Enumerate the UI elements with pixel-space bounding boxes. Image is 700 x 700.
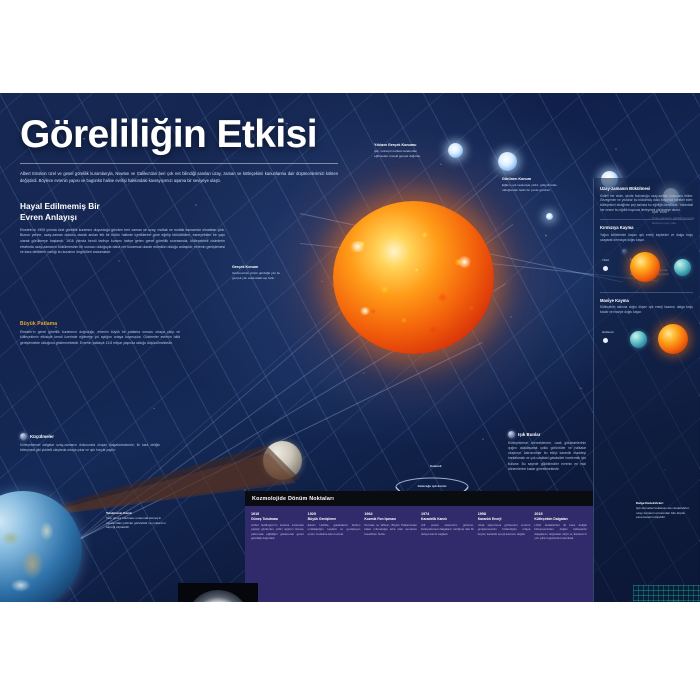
poster-canvas: Göreliliğin Etkisi Albert Einstein üzel … [0, 0, 700, 700]
rc-divider [600, 219, 693, 220]
timeline-title: Güneş Tutulması [251, 517, 304, 521]
rc-section-maviye-kayma: Maviye Kayma Kütleçekim alanına doğru dü… [594, 298, 699, 358]
timeline-header-bar: Kozmolojide Dönüm Noktaları [245, 491, 593, 506]
rc-section-kirmiziya-kayma: Kırmızıya Kayma Yoğun kütlelerden kaçan … [594, 225, 699, 285]
sun-granulation-texture [333, 201, 494, 354]
redshift-left-tag: Yıldız [602, 258, 609, 262]
timeline-title: Büyük Genişleme [308, 517, 361, 521]
timeline-year: 2015 [534, 512, 587, 516]
right-info-column: Uzay-zamanın Bükülmesi Kütleli her cisim… [593, 178, 699, 602]
star-sphere-icon [630, 252, 660, 282]
bullet-body: Kütleçekimsel merceklenme, uzak gökcisim… [508, 441, 586, 473]
rc-heading: Maviye Kayma [600, 298, 693, 303]
section-subtitle-body: Einstein'ın 1905 yılında özel görelilik … [20, 228, 225, 256]
cone-top-label: Gelecek [430, 465, 470, 469]
blueshift-diagram: Gözlemci [600, 318, 693, 358]
planet-sphere-icon [674, 259, 691, 276]
caption-title: Dalga Dedektörleri [636, 501, 663, 505]
section-subtitle: Hayal Edilmemiş Bir Evren Anlayışı [20, 201, 360, 223]
solar-flare-icon [349, 241, 366, 252]
sun-illustration [333, 201, 494, 354]
moon-illustration [263, 441, 302, 480]
cone-upper-label: Geleceğe ışık konisi [404, 485, 460, 489]
eclipse-corona [186, 590, 250, 602]
rc-body: Kütleli her cisim, içinde bulunduğu uzay… [600, 194, 693, 214]
timeline-title: Kozmik Fon Işıması [364, 517, 417, 521]
earth-landmasses [0, 491, 82, 602]
star-sphere-icon [658, 324, 688, 354]
bigbang-body: Einstein'ın genel görelilik kuramının do… [20, 330, 180, 346]
timeline-year: 1929 [308, 512, 361, 516]
observer-dot-icon [603, 338, 608, 343]
timeline-item: 2015 Kütleçekim Dalgaları LIGO dedektörl… [534, 512, 587, 541]
planet-sphere-icon [630, 331, 647, 348]
timeline-item: 1974 Karadelik Kanıtı Çift pulsar sistem… [421, 512, 474, 541]
timeline-items: 1919 Güneş Tutulması Arthur Eddington'ın… [245, 506, 593, 541]
bullet-isik-bunlar: Işık Bunlar Kütleçekimsel merceklenme, u… [508, 431, 586, 472]
relativity-poster: Göreliliğin Etkisi Albert Einstein üzel … [0, 93, 700, 602]
caption-title: Tutulmanın Kanıtı [106, 511, 132, 515]
label-title: Görünen Konum [502, 177, 558, 182]
solar-flare-icon [457, 256, 472, 268]
bullet-body: Kütleçekimsel dalgalar uzay-zamanın doku… [20, 443, 160, 454]
rc-heading: Kırmızıya Kayma [600, 225, 693, 230]
timeline-body: Penzias ve Wilson, Büyük Patlama'dan kal… [364, 523, 417, 537]
timeline-title: Kütleçekim Dalgaları [534, 517, 587, 521]
intro-paragraph: Albert Einstein üzel ve genel görelilik … [20, 171, 338, 184]
timeline-body: Uzak süpernova gözlemleri evrenin genişl… [478, 523, 531, 537]
timeline-heading: Kozmolojide Dönüm Noktaları [252, 496, 334, 502]
star-body-2 [498, 152, 517, 171]
bullet-label: Küçülmeler [30, 434, 54, 439]
label-title: Gerçek Konum [232, 265, 282, 270]
bigbang-block: Büyük Patlama Einstein'ın genel görelili… [20, 321, 180, 346]
rc-section-bukulme: Uzay-zamanın Bükülmesi Kütleli her cisim… [594, 178, 699, 213]
timeline-body: Çift pulsar sisteminin gözlemi, kütleçek… [421, 523, 474, 537]
label-title: Yıldızın Gerçek Konumu [374, 143, 428, 148]
rc-heading: Uzay-zamanın Bükülmesi [600, 186, 693, 191]
sphere-icon [20, 433, 27, 440]
page-title: Göreliliğin Etkisi [20, 115, 360, 154]
timeline-item: 1998 Karanlık Enerji Uzak süpernova gözl… [478, 512, 531, 541]
label-desc: Gözlemcinin yıldızı gördüğü yön ile gerç… [232, 271, 282, 281]
timeline-body: Arthur Eddington'ın tutulma sırasında ya… [251, 523, 304, 541]
blueshift-left-tag: Gözlemci [602, 330, 614, 334]
rc-body: Yoğun kütlelerden kaçan ışık enerji kayb… [600, 233, 693, 243]
label-desc: Işık, Güneş'in kütlesi tarafından eğilme… [374, 149, 428, 159]
caption-body: Işık demetleri kullanan dev dedektörler,… [636, 506, 696, 520]
title-divider [20, 163, 338, 164]
timeline-title: Karanlık Enerji [478, 517, 531, 521]
gw-caption: Dalga Dedektörleri Işık demetleri kullan… [636, 501, 696, 520]
gravitational-wave-photo [633, 585, 700, 602]
timeline-year: 1919 [251, 512, 304, 516]
timeline-title: Karadelik Kanıtı [421, 517, 474, 521]
label-gercek-konum: Gerçek Konum Gözlemcinin yıldızı gördüğü… [232, 265, 282, 281]
bigbang-heading: Büyük Patlama [20, 321, 180, 327]
timeline-body: Edwin Hubble, galaksilerin bizden uzakla… [308, 523, 361, 537]
caption-body: Tam güneş tutulması sırasında Güneş'in y… [106, 516, 172, 530]
observer-dot-icon [603, 266, 608, 271]
timeline-item: 1919 Güneş Tutulması Arthur Eddington'ın… [251, 512, 304, 541]
label-gorunen-konum: Görünen Konum Eğilen ışık nedeniyle yıld… [502, 177, 558, 193]
solar-eclipse-photo [178, 583, 258, 602]
timeline-item: 1929 Büyük Genişleme Edwin Hubble, galak… [308, 512, 361, 541]
timeline-year: 1974 [421, 512, 474, 516]
star-body-1 [448, 143, 463, 158]
timeline-year: 1998 [478, 512, 531, 516]
timeline-panel: Kozmolojide Dönüm Noktaları 1919 Güneş T… [245, 491, 593, 602]
bullet-kucuklesme: Küçülmeler Kütleçekimsel dalgalar uzay-z… [20, 433, 160, 453]
timeline-item: 1964 Kozmik Fon Işıması Penzias ve Wilso… [364, 512, 417, 541]
rc-body: Kütleçekim alanına doğru düşen ışık ener… [600, 305, 693, 315]
earth-illustration [0, 491, 82, 602]
eclipse-caption: Tutulmanın Kanıtı Tam güneş tutulması sı… [106, 511, 172, 530]
label-desc: Eğilen ışık nedeniyle yıldız, gökyüzünde… [502, 183, 558, 193]
sphere-icon [508, 431, 515, 438]
timeline-body: LIGO dedektörleri iki kara deliğin birle… [534, 523, 587, 541]
redshift-diagram: Yıldız [600, 246, 693, 286]
solar-flare-icon [359, 307, 371, 315]
label-yildizin-gercek-konumu: Yıldızın Gerçek Konumu Işık, Güneş'in kü… [374, 143, 428, 159]
rc-divider [600, 292, 693, 293]
headline-block: Göreliliğin Etkisi Albert Einstein üzel … [20, 115, 360, 256]
star-body-5 [546, 213, 553, 220]
timeline-year: 1964 [364, 512, 417, 516]
bullet-label: Işık Bunlar [518, 432, 540, 437]
